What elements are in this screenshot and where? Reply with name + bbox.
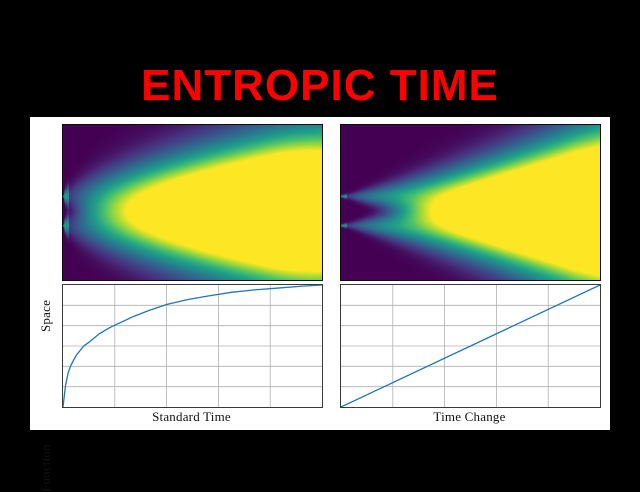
left-lineplot-gridlines	[63, 285, 322, 407]
left-heatmap-image	[63, 125, 322, 280]
left-lineplot-ylabel: Function	[38, 444, 54, 492]
slide-stage: ENTROPIC TIME Space Function Standard Ti…	[0, 0, 640, 480]
left-lineplot-svg	[63, 285, 322, 407]
right-lineplot-axes[interactable]	[340, 284, 601, 408]
page-title: ENTROPIC TIME	[0, 62, 640, 110]
right-lineplot-xlabel: Time Change	[340, 409, 599, 425]
right-heatmap-axes[interactable]	[340, 124, 601, 281]
right-lineplot-svg	[341, 285, 600, 407]
left-lineplot-axes[interactable]	[62, 284, 323, 408]
left-heatmap-axes[interactable]	[62, 124, 323, 281]
right-heatmap-image	[341, 125, 600, 280]
figure-canvas: Space Function Standard Time Time Change	[30, 117, 610, 430]
left-lineplot-xlabel: Standard Time	[62, 409, 321, 425]
left-heatmap-ylabel: Space	[38, 300, 54, 332]
